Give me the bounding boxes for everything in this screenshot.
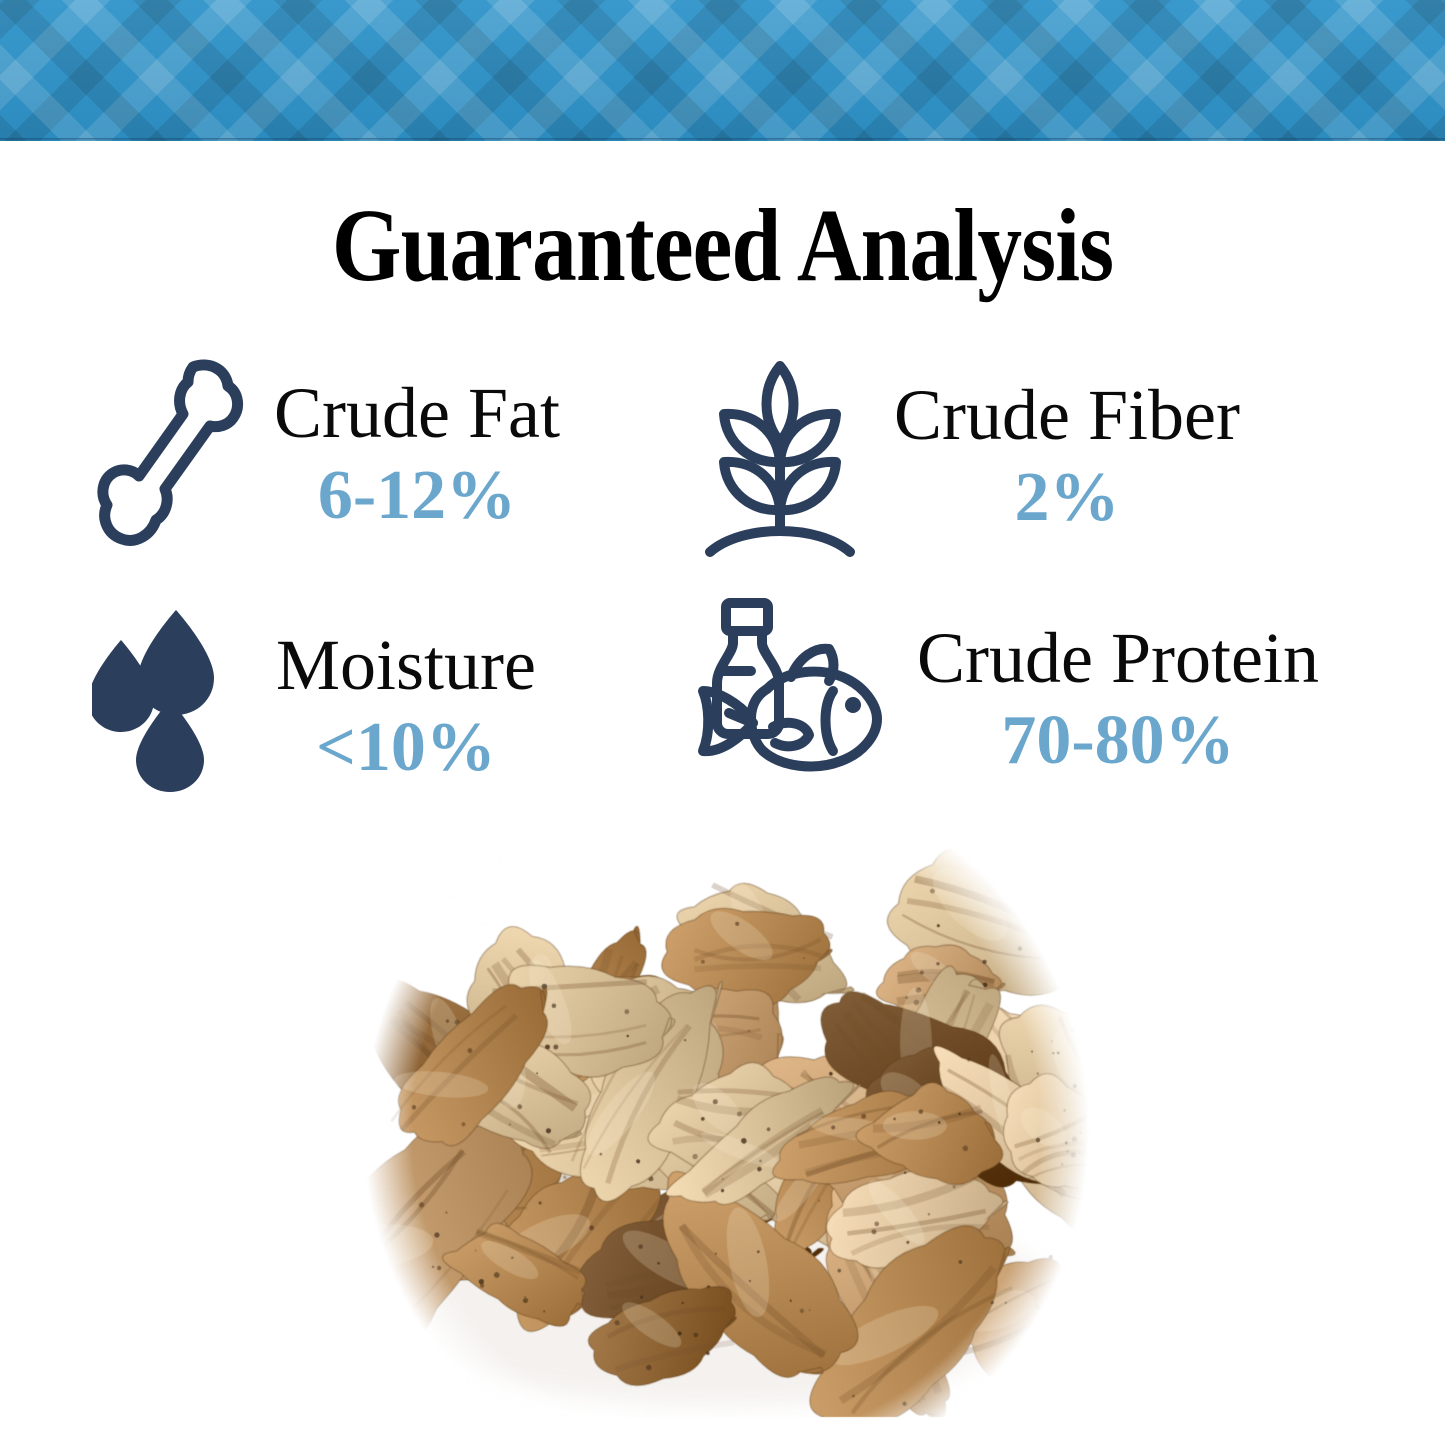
- top-plaid-banner: [0, 0, 1445, 141]
- water-droplets-icon: [92, 602, 240, 797]
- banner-bottom-edge: [0, 138, 1445, 141]
- stat-item-crude-protein: Crude Protein 70-80%: [695, 595, 1319, 782]
- stat-label-crude-protein: Crude Protein: [917, 617, 1319, 699]
- stat-label-moisture: Moisture: [276, 624, 536, 706]
- stat-text-moisture: Moisture <10%: [276, 602, 536, 788]
- plaid-pattern: [0, 0, 1445, 141]
- stat-text-crude-fat: Crude Fat 6-12%: [274, 350, 560, 536]
- stat-text-crude-fiber: Crude Fiber 2%: [894, 352, 1240, 538]
- stat-label-crude-fat: Crude Fat: [274, 372, 560, 454]
- stat-label-crude-fiber: Crude Fiber: [894, 374, 1240, 456]
- bone-icon: [92, 350, 244, 567]
- product-photo: [250, 838, 1202, 1423]
- stat-item-crude-fat: Crude Fat 6-12%: [92, 350, 560, 567]
- fish-oil-icon: [695, 595, 887, 782]
- stat-item-moisture: Moisture <10%: [92, 602, 536, 797]
- stat-value-crude-protein: 70-80%: [1001, 701, 1234, 781]
- page-title: Guaranteed Analysis: [101, 190, 1344, 302]
- dried-beef-hide-chews-pile-image: [250, 838, 1202, 1423]
- wheat-sprout-icon: [700, 352, 860, 569]
- stat-value-crude-fat: 6-12%: [318, 456, 516, 536]
- stat-text-crude-protein: Crude Protein 70-80%: [917, 595, 1319, 781]
- stat-value-moisture: <10%: [316, 708, 496, 788]
- stat-value-crude-fiber: 2%: [1014, 458, 1119, 538]
- stat-item-crude-fiber: Crude Fiber 2%: [700, 352, 1240, 569]
- guaranteed-analysis-grid: Crude Fat 6-12%: [0, 350, 1445, 810]
